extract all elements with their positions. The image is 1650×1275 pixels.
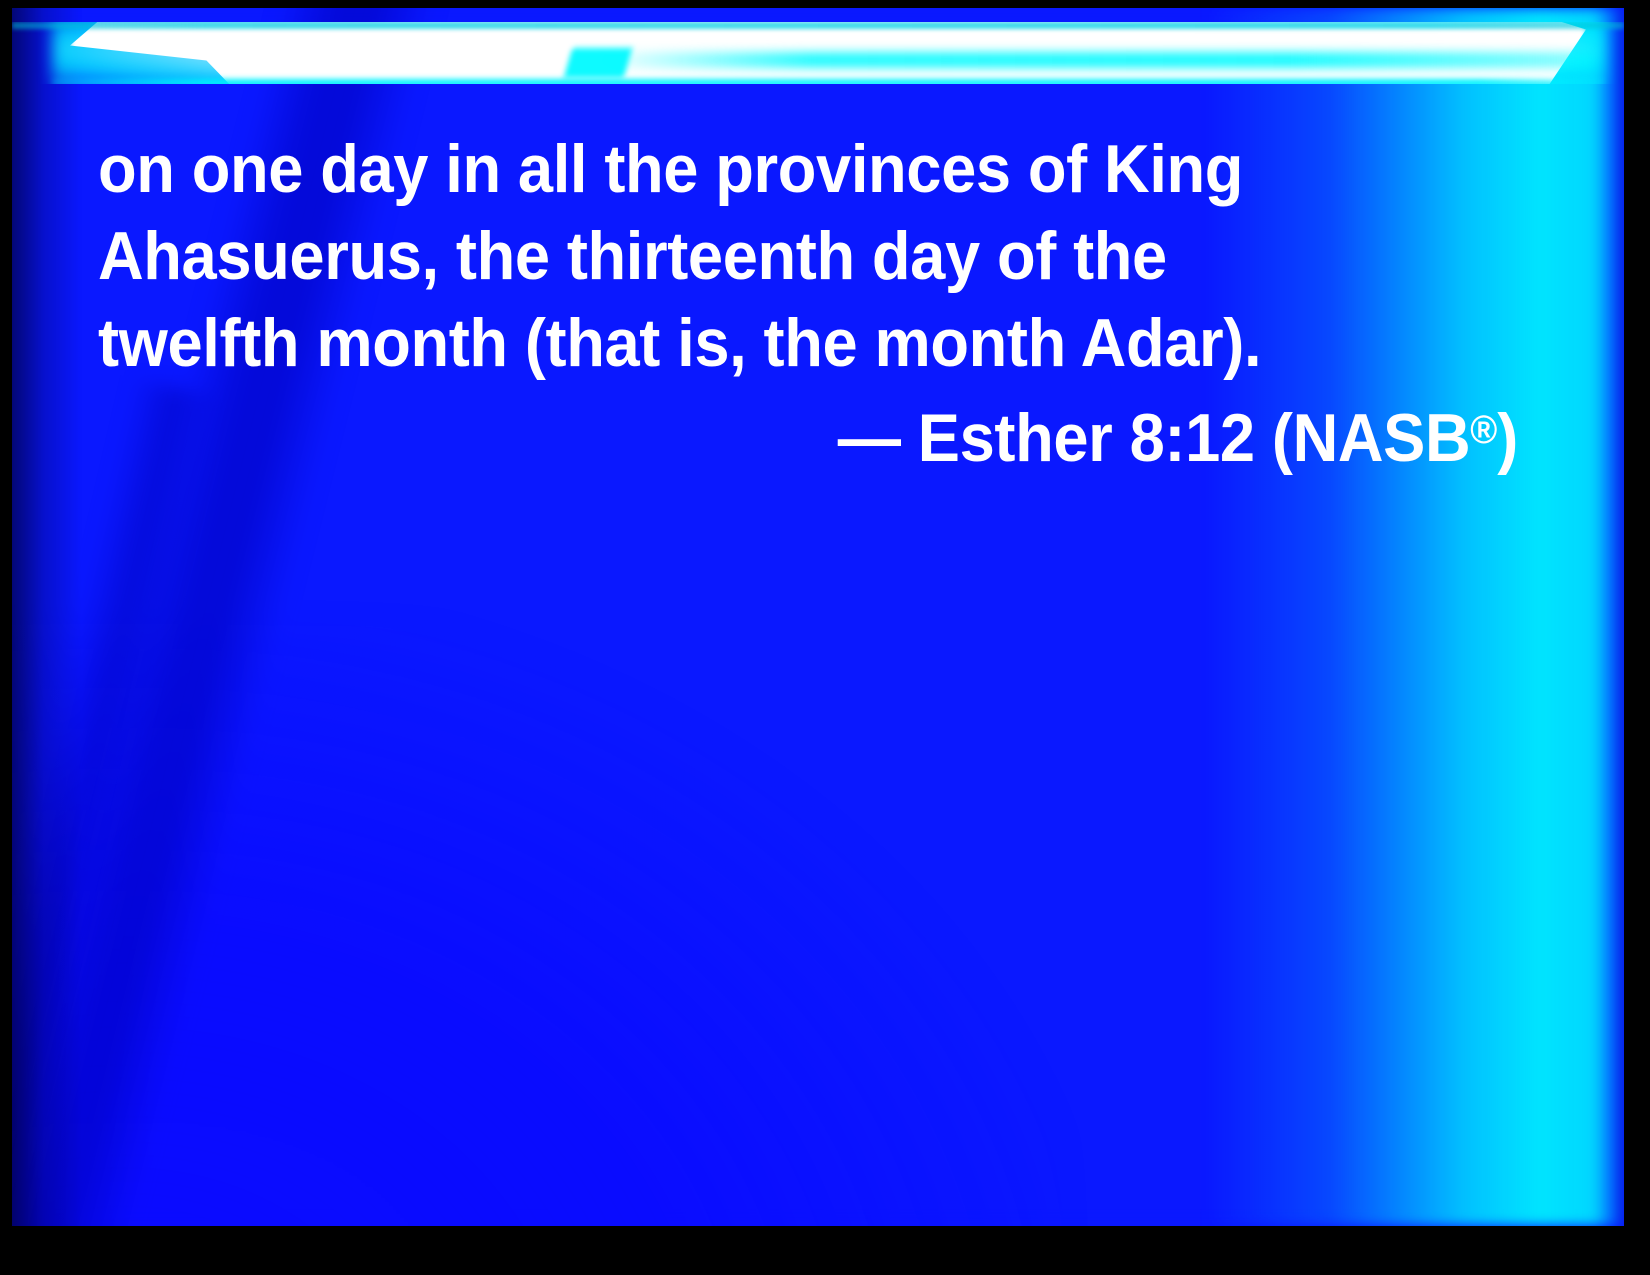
citation-translation-open: (NASB: [1272, 400, 1470, 476]
citation-spacer-2: [1112, 400, 1129, 476]
verse-line-3: twelfth month (that is, the month Adar).: [98, 300, 1419, 387]
white-band-shape: [12, 22, 1624, 84]
white-band-top-edge: [12, 22, 1624, 29]
left-edge-shade: [12, 8, 82, 1226]
white-band-bottom-edge: [52, 79, 1604, 84]
verse-line-1: on one day in all the provinces of King: [98, 126, 1419, 213]
citation-spacer-1: [901, 400, 918, 476]
citation-spacer-3: [1255, 400, 1272, 476]
citation-dash: —: [838, 400, 901, 476]
verse-citation: — Esther 8:12 (NASB®): [197, 387, 1518, 482]
citation-translation-close: ): [1497, 400, 1518, 476]
verse-text-block: on one day in all the provinces of King …: [98, 126, 1518, 482]
citation-reference: 8:12: [1130, 400, 1255, 476]
verse-line-2: Ahasuerus, the thirteenth day of the: [98, 213, 1419, 300]
white-light-band: [12, 22, 1624, 84]
scripture-slide: on one day in all the provinces of King …: [0, 0, 1650, 1275]
registered-trademark-icon: ®: [1470, 408, 1497, 452]
citation-book: Esther: [918, 400, 1113, 476]
white-band-cyan-wedge: [564, 48, 633, 78]
slide-artwork-panel: on one day in all the provinces of King …: [12, 8, 1624, 1226]
white-band-cyan-streak: [592, 52, 1592, 68]
